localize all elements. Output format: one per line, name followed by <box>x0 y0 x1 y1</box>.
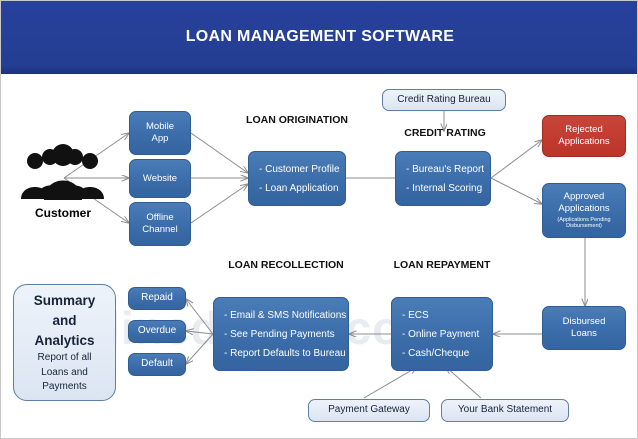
repayment-item-2: - Cash/Cheque <box>402 344 469 363</box>
status-label: Repaid <box>141 292 173 305</box>
disbursed-line2: Loans <box>571 328 597 340</box>
stage-box-credit-rating[interactable]: - Bureau's Report - Internal Scoring <box>395 151 491 206</box>
label-line1: LOAN <box>394 259 424 271</box>
stage-label-recollection: LOAN RECOLLECTION <box>223 259 349 272</box>
recollection-item-2: - Report Defaults to Bureau <box>224 344 346 363</box>
credit-rating-item-1: - Internal Scoring <box>406 179 482 198</box>
status-default[interactable]: Default <box>128 353 186 376</box>
status-overdue[interactable]: Overdue <box>128 320 186 343</box>
summary-sub-line1: Report of all <box>38 351 92 365</box>
outcome-rejected-applications[interactable]: Rejected Applications <box>542 115 626 157</box>
channel-mobile-app[interactable]: Mobile App <box>129 111 191 155</box>
customer-label: Customer <box>13 206 113 220</box>
channel-label-line1: Website <box>143 173 177 185</box>
origination-item-0: - Customer Profile <box>259 160 340 179</box>
source-bank-statement[interactable]: Your Bank Statement <box>441 399 569 422</box>
origination-item-1: - Loan Application <box>259 179 339 198</box>
diagram-canvas: LOAN MANAGEMENT SOFTWARE onlinedigest.co… <box>0 0 638 439</box>
channel-label-line2: Channel <box>142 224 177 236</box>
summary-and-analytics-box[interactable]: Summary and Analytics Report of all Loan… <box>13 284 116 401</box>
channel-label-line1: Mobile <box>146 121 174 133</box>
label-line1: LOAN <box>228 259 258 271</box>
label-line2: ORIGINATION <box>279 114 348 126</box>
summary-sub-line2: Loans and <box>41 366 88 380</box>
stage-box-origination[interactable]: - Customer Profile - Loan Application <box>248 151 346 206</box>
status-repaid[interactable]: Repaid <box>128 287 186 310</box>
rejected-line2: Applications <box>558 136 609 148</box>
status-label: Overdue <box>138 325 176 338</box>
stage-label-origination: LOAN ORIGINATION <box>241 114 353 127</box>
stage-label-credit-rating: CREDIT RATING <box>389 127 501 140</box>
approved-line1: Approved <box>564 191 605 203</box>
label-line1: LOAN <box>246 114 276 126</box>
status-label: Default <box>141 358 173 371</box>
stage-box-recollection[interactable]: - Email & SMS Notifications - See Pendin… <box>213 297 349 371</box>
recollection-item-1: - See Pending Payments <box>224 325 335 344</box>
recollection-item-0: - Email & SMS Notifications <box>224 306 346 325</box>
channel-label-line1: Offline <box>146 212 173 224</box>
label-line2: REPAYMENT <box>426 259 490 271</box>
bureau-label: Credit Rating Bureau <box>397 94 490 107</box>
disbursed-line1: Disbursed <box>563 316 606 328</box>
rejected-line1: Rejected <box>565 124 603 136</box>
source-payment-gateway[interactable]: Payment Gateway <box>308 399 430 422</box>
source-label: Your Bank Statement <box>458 404 552 417</box>
outcome-disbursed-loans[interactable]: Disbursed Loans <box>542 306 626 350</box>
channel-label-line2: App <box>152 133 169 145</box>
source-label: Payment Gateway <box>328 404 410 417</box>
people-group-icon <box>13 143 113 203</box>
stage-label-repayment: LOAN REPAYMENT <box>391 259 493 272</box>
summary-title-line1: Summary <box>34 291 96 311</box>
summary-sub-line3: Payments <box>42 380 86 394</box>
outcome-approved-applications[interactable]: Approved Applications (Applications Pend… <box>542 183 626 238</box>
repayment-item-0: - ECS <box>402 306 429 325</box>
credit-rating-bureau-box[interactable]: Credit Rating Bureau <box>382 89 506 111</box>
summary-title-line3: Analytics <box>34 331 94 351</box>
repayment-item-1: - Online Payment <box>402 325 479 344</box>
channel-website[interactable]: Website <box>129 159 191 198</box>
label-line2: RECOLLECTION <box>261 259 344 271</box>
approved-note: (Applications Pending Disbursement) <box>543 217 625 231</box>
label-line1: CREDIT RATING <box>404 127 485 139</box>
summary-title-line2: and <box>52 311 76 331</box>
channel-offline[interactable]: Offline Channel <box>129 202 191 246</box>
credit-rating-item-0: - Bureau's Report <box>406 160 484 179</box>
approved-line2: Applications <box>558 203 609 215</box>
stage-box-repayment[interactable]: - ECS - Online Payment - Cash/Cheque <box>391 297 493 371</box>
